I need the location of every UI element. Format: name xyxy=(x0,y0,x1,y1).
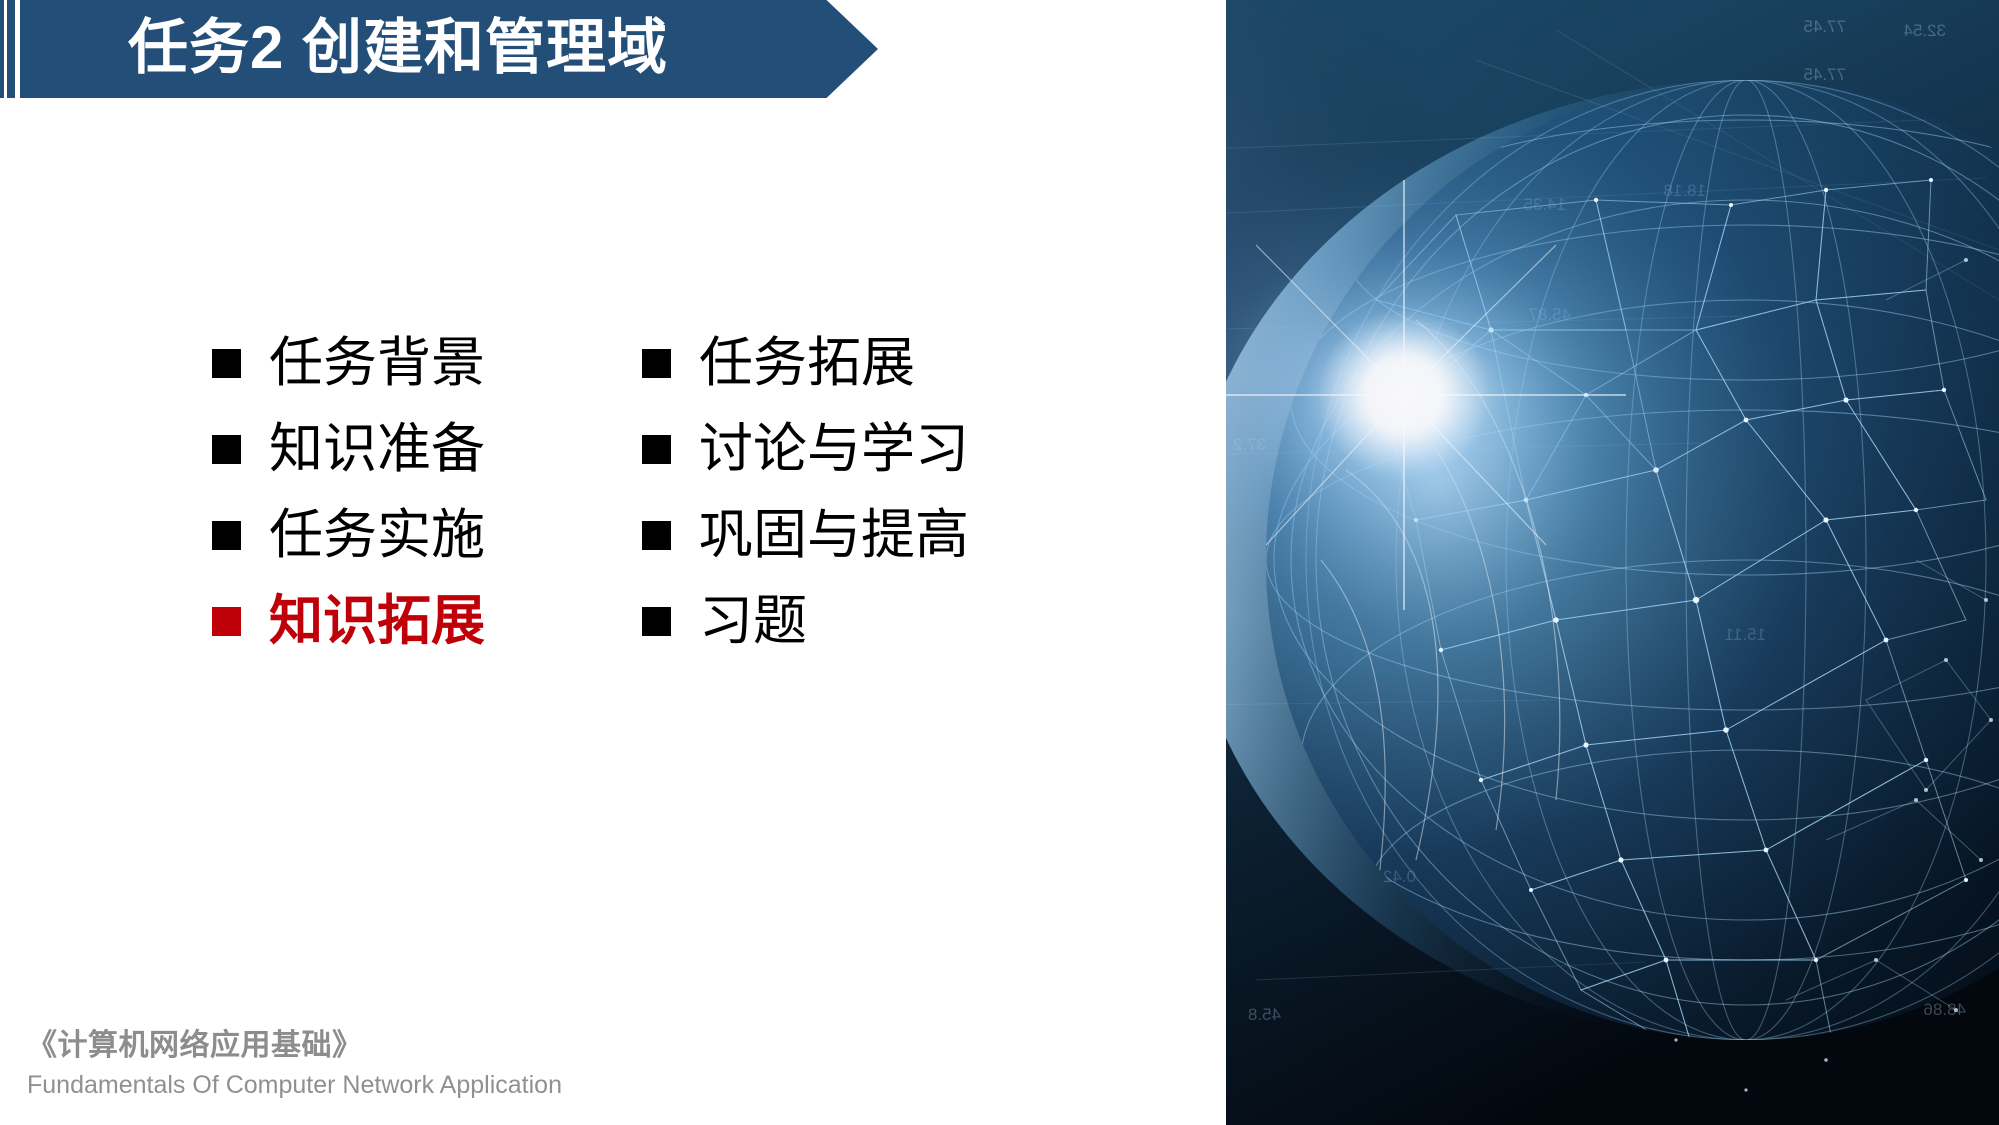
agenda-item-consolidation-and-improvement[interactable]: 巩固与提高 xyxy=(642,492,1072,578)
agenda-item-task-implementation[interactable]: 任务实施 xyxy=(212,492,642,578)
slide-canvas: 任务2 创建和管理域 任务背景 任务拓展 知识准备 讨论与学习 任务实施 巩固与… xyxy=(0,0,1999,1125)
square-bullet-icon xyxy=(212,435,241,464)
agenda-item-label: 习题 xyxy=(699,594,807,648)
banner-accent-stripe-outer xyxy=(0,0,4,98)
square-bullet-icon xyxy=(642,521,671,550)
agenda-item-label: 讨论与学习 xyxy=(699,422,969,476)
square-bullet-icon xyxy=(212,349,241,378)
agenda-item-label: 巩固与提高 xyxy=(699,508,969,562)
footer-course-title-en: Fundamentals Of Computer Network Applica… xyxy=(27,1069,562,1102)
network-globe-illustration: 32.54 77.45 77.45 18.18 14.35 45.87 37.2… xyxy=(1226,0,1999,1125)
agenda-list: 任务背景 任务拓展 知识准备 讨论与学习 任务实施 巩固与提高 知识拓展 xyxy=(212,320,1072,664)
agenda-item-label: 知识准备 xyxy=(269,422,485,476)
square-bullet-icon xyxy=(212,521,241,550)
agenda-item-discussion-and-study[interactable]: 讨论与学习 xyxy=(642,406,1072,492)
slide-footer: 《计算机网络应用基础》 Fundamentals Of Computer Net… xyxy=(27,1027,562,1101)
title-banner: 任务2 创建和管理域 xyxy=(0,0,880,98)
square-bullet-icon xyxy=(642,607,671,636)
network-globe-image: 32.54 77.45 77.45 18.18 14.35 45.87 37.2… xyxy=(1226,0,1999,1125)
agenda-item-label: 知识拓展 xyxy=(269,594,485,648)
agenda-item-task-extension[interactable]: 任务拓展 xyxy=(642,320,1072,406)
agenda-item-knowledge-preparation[interactable]: 知识准备 xyxy=(212,406,642,492)
square-bullet-icon xyxy=(212,607,241,636)
footer-course-title-cn: 《计算机网络应用基础》 xyxy=(27,1027,562,1065)
agenda-item-label: 任务拓展 xyxy=(699,336,915,390)
agenda-item-task-background[interactable]: 任务背景 xyxy=(212,320,642,406)
square-bullet-icon xyxy=(642,435,671,464)
agenda-item-label: 任务实施 xyxy=(269,508,485,562)
page-title: 任务2 创建和管理域 xyxy=(128,0,668,98)
square-bullet-icon xyxy=(642,349,671,378)
agenda-item-exercises[interactable]: 习题 xyxy=(642,578,1072,664)
banner-accent-stripe-inner xyxy=(7,0,15,98)
agenda-item-label: 任务背景 xyxy=(269,336,485,390)
agenda-item-knowledge-extension[interactable]: 知识拓展 xyxy=(212,578,642,664)
